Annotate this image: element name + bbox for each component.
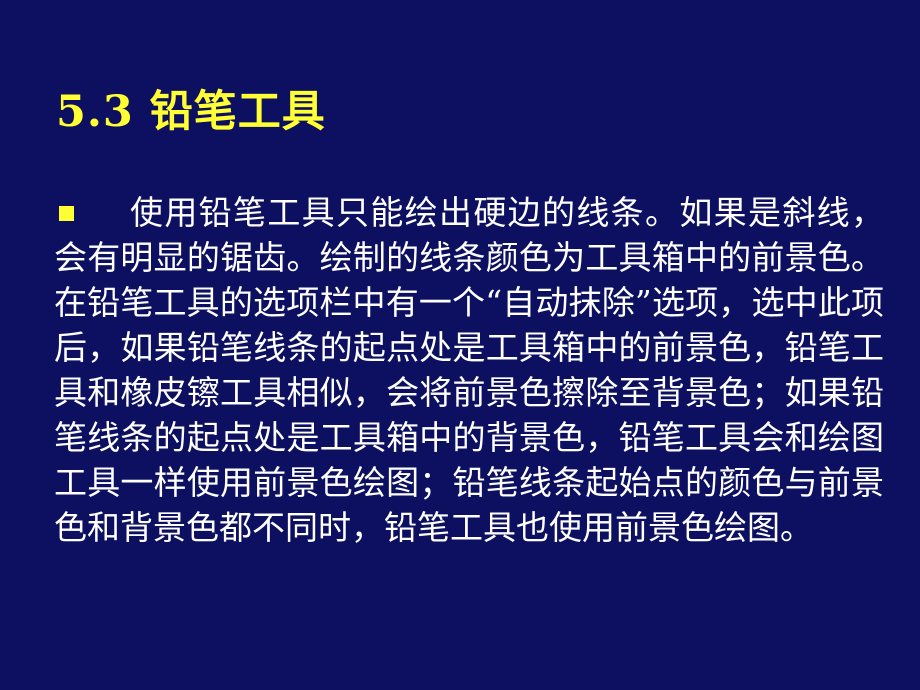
bullet-item-text: 使用铅笔工具只能绘出硬边的线条。如果是斜线，会有明显的锯齿。绘制的线条颜色为工具… xyxy=(54,190,884,550)
bullet-list: 使用铅笔工具只能绘出硬边的线条。如果是斜线，会有明显的锯齿。绘制的线条颜色为工具… xyxy=(54,190,884,550)
square-bullet-icon xyxy=(59,206,74,221)
slide-canvas: 5.3 铅笔工具 使用铅笔工具只能绘出硬边的线条。如果是斜线，会有明显的锯齿。绘… xyxy=(0,0,920,690)
page-title: 5.3 铅笔工具 xyxy=(56,86,326,138)
